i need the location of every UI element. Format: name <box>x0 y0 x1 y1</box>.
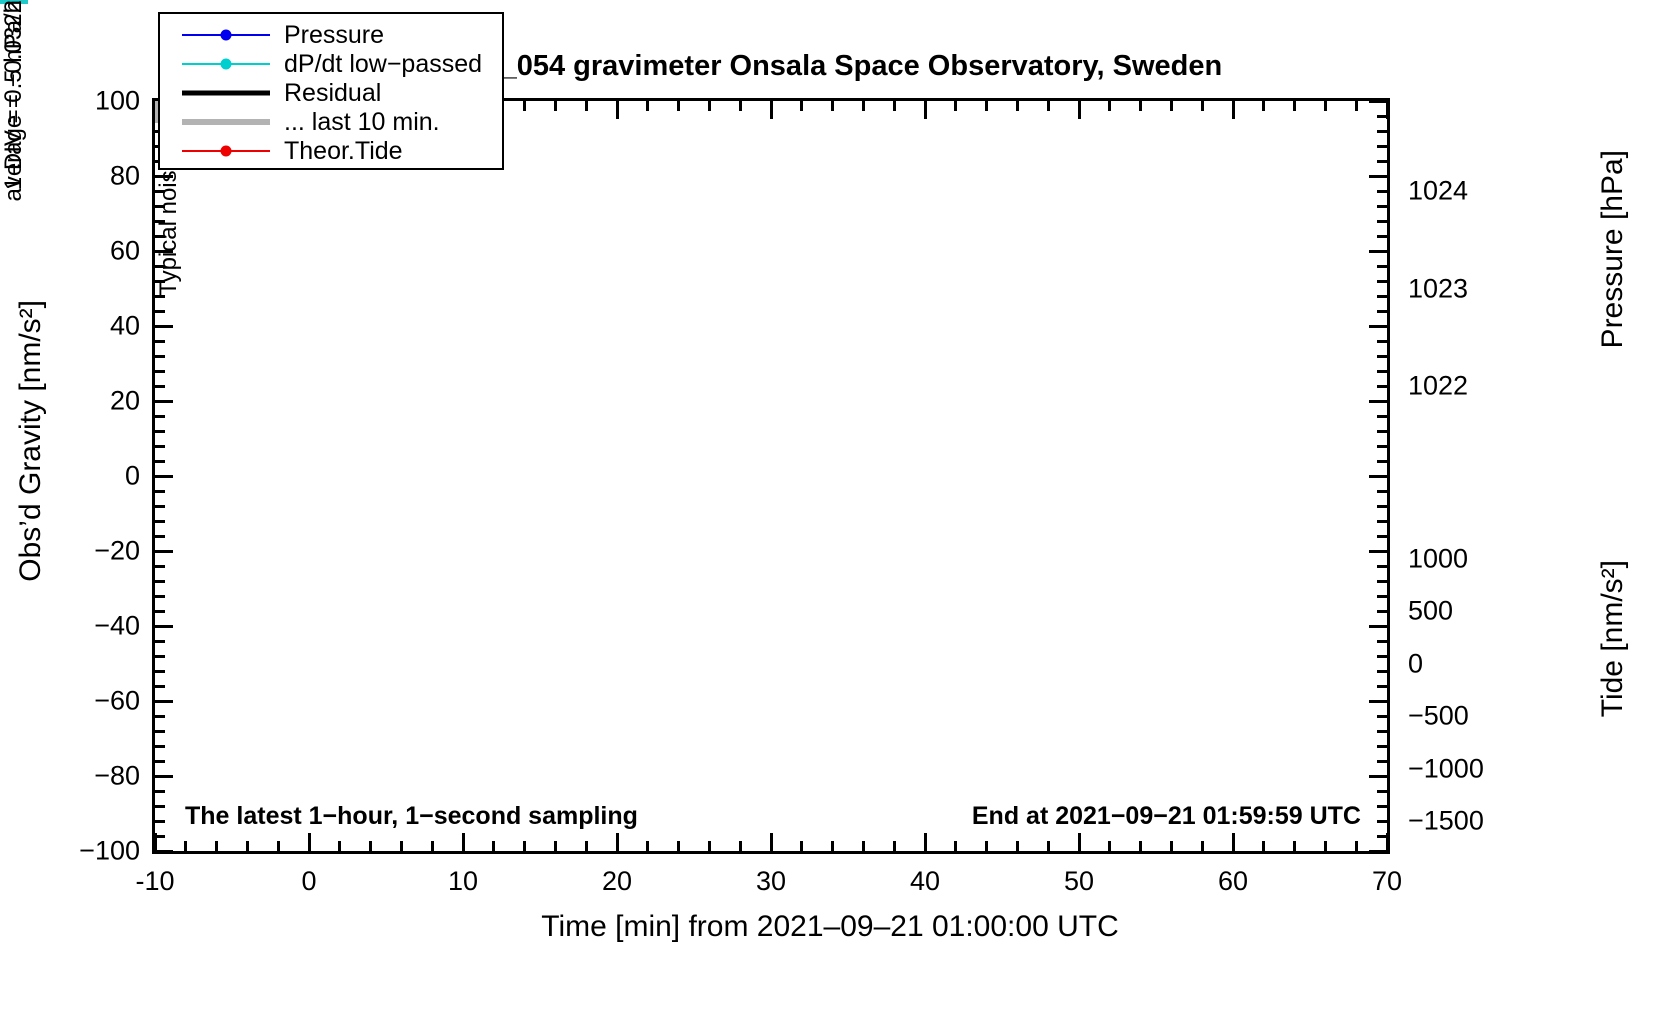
legend-label-pressure: Pressure <box>284 21 384 50</box>
legend-swatch-dpdt <box>182 50 270 78</box>
y-tick-left--60: −60 <box>20 686 140 717</box>
y-tick-left-20: 20 <box>20 386 140 417</box>
legend: Pressure dP/dt low−passed Residual ... l… <box>158 12 504 170</box>
x-tick--10: -10 <box>135 866 174 897</box>
y-axis-title-pressure: Pressure [hPa] <box>1596 150 1630 348</box>
x-tick-70: 70 <box>1372 866 1402 897</box>
x-tick-10: 10 <box>448 866 478 897</box>
y-tick-left--20: −20 <box>20 536 140 567</box>
x-tick-0: 0 <box>301 866 316 897</box>
y-tick-left--40: −40 <box>20 611 140 642</box>
legend-item-residual[interactable]: Residual <box>160 79 502 107</box>
y-tick-tide-500: 500 <box>1408 596 1453 627</box>
legend-label-residual: Residual <box>284 79 381 108</box>
legend-swatch-tide <box>182 137 270 165</box>
legend-label-tide: Theor.Tide <box>284 137 403 166</box>
legend-label-dpdt: dP/dt low−passed <box>284 50 482 79</box>
y-tick-left-80: 80 <box>20 161 140 192</box>
y-tick-tide-1000: 1000 <box>1408 543 1468 574</box>
y-tick-left--100: −100 <box>20 836 140 867</box>
legend-swatch-pressure <box>182 21 270 49</box>
legend-swatch-residual <box>182 79 270 107</box>
y-axis-title-tide: Tide [nm/s²] <box>1596 560 1630 717</box>
y-tick-pressure-1022: 1022 <box>1408 371 1468 402</box>
plot-clip <box>155 101 1387 851</box>
x-tick-60: 60 <box>1218 866 1248 897</box>
y-tick-left-0: 0 <box>20 461 140 492</box>
footer-right-text: End at 2021−09−21 01:59:59 UTC <box>972 802 1361 831</box>
y-tick-pressure-1024: 1024 <box>1408 176 1468 207</box>
y-tick-tide--1000: −1000 <box>1408 753 1484 784</box>
x-axis-title: Time [min] from 2021‒09‒21 01:00:00 UTC <box>0 910 1660 944</box>
div-scale-label-average: average = −0.0322 <box>0 0 28 202</box>
x-tick-40: 40 <box>910 866 940 897</box>
legend-swatch-last10 <box>182 108 270 136</box>
legend-item-last10[interactable]: ... last 10 min. <box>160 108 502 136</box>
y-tick-left-60: 60 <box>20 236 140 267</box>
y-tick-tide--1500: −1500 <box>1408 806 1484 837</box>
legend-item-pressure[interactable]: Pressure <box>160 21 502 49</box>
y-tick-left-100: 100 <box>20 86 140 117</box>
y-tick-tide--500: −500 <box>1408 701 1469 732</box>
legend-label-last10: ... last 10 min. <box>284 108 440 137</box>
y-tick-left-40: 40 <box>20 311 140 342</box>
x-tick-50: 50 <box>1064 866 1094 897</box>
plot-area[interactable]: Typical noise level The latest 1−hour, 1… <box>152 98 1390 854</box>
data-curves <box>155 101 1387 851</box>
legend-item-tide[interactable]: Theor.Tide <box>160 137 502 165</box>
footer-left-text: The latest 1−hour, 1−second sampling <box>185 802 638 831</box>
x-tick-20: 20 <box>602 866 632 897</box>
x-tick-30: 30 <box>756 866 786 897</box>
y-tick-left--80: −80 <box>20 761 140 792</box>
legend-item-dpdt[interactable]: dP/dt low−passed <box>160 50 502 78</box>
y-tick-tide-0: 0 <box>1408 648 1423 679</box>
y-tick-pressure-1023: 1023 <box>1408 273 1468 304</box>
